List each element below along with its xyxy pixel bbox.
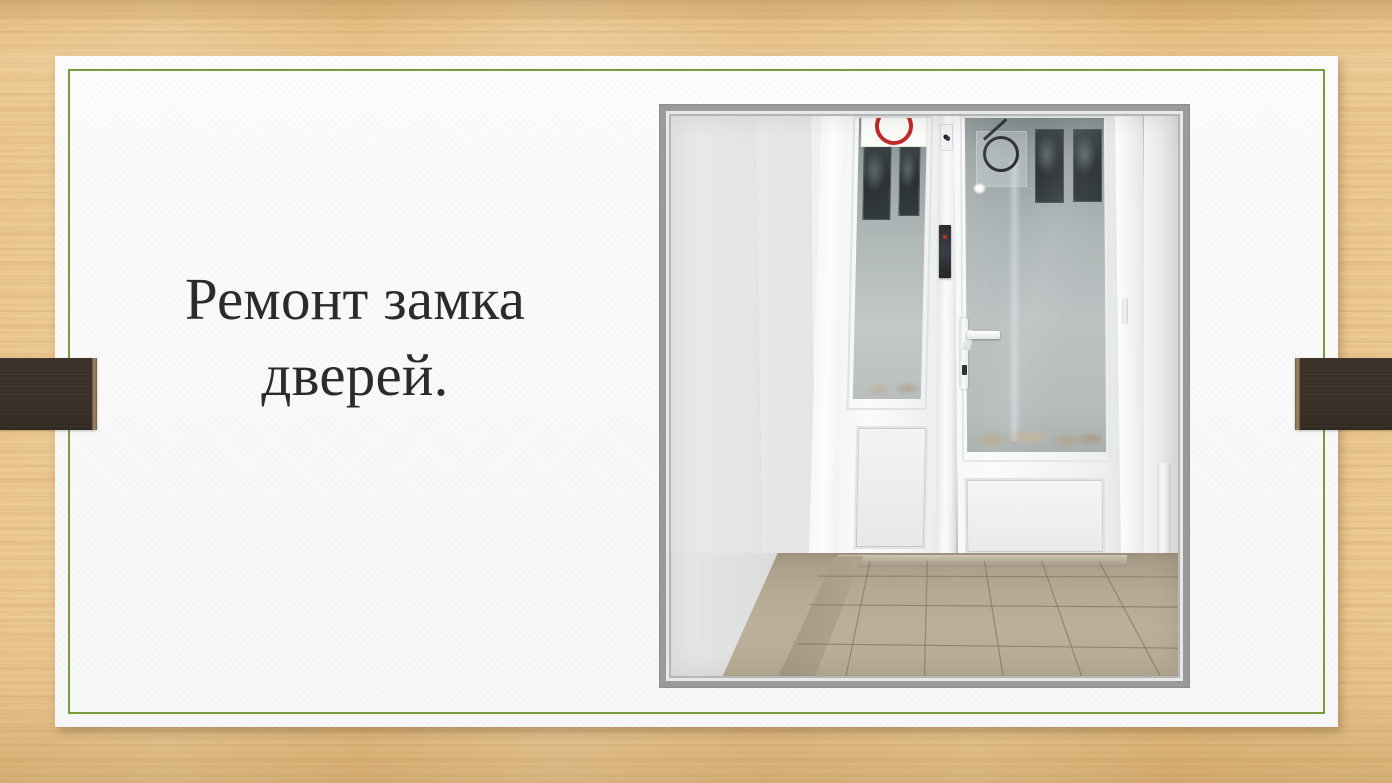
photo-card-reader: [939, 225, 951, 278]
photo-lock-cylinder: [962, 365, 967, 376]
photo-right-door-panel: [965, 478, 1105, 554]
slide-canvas: Ремонт замка дверей.: [0, 0, 1392, 783]
photo-debris-left: [858, 378, 927, 397]
ribbon-cap-left-icon: [92, 358, 97, 430]
photo-notice-board-b: [898, 145, 921, 216]
photo-left-door-panel: [853, 426, 928, 549]
photo-door-hinge: [1122, 298, 1128, 324]
photo-notice-board-b-texture: [899, 146, 919, 215]
photo-glass-reflection: [964, 116, 1105, 452]
photo-mullion-sticker: [940, 124, 953, 151]
photo-frame: [660, 105, 1189, 687]
photo-debris-threshold: [967, 425, 1103, 450]
photo-door-handle: [967, 331, 1000, 339]
photo-threshold: [838, 555, 1127, 567]
photo-notice-board-a: [862, 145, 892, 220]
slide-title-line-2: дверей.: [120, 338, 590, 414]
slide-title-line-1: Ремонт замка: [120, 262, 590, 338]
decorative-ribbon-right: [1295, 358, 1392, 430]
door-photograph: [671, 116, 1178, 676]
photo-notice-board-a-texture: [864, 146, 892, 219]
photo-handle-plate: [960, 318, 968, 390]
photo-frame-inner-line: [666, 111, 1183, 681]
decorative-ribbon-left: [0, 358, 97, 430]
slide-title: Ремонт замка дверей.: [120, 262, 590, 413]
photo-glass-highlight: [973, 183, 986, 194]
ribbon-cap-right-icon: [1295, 358, 1300, 430]
